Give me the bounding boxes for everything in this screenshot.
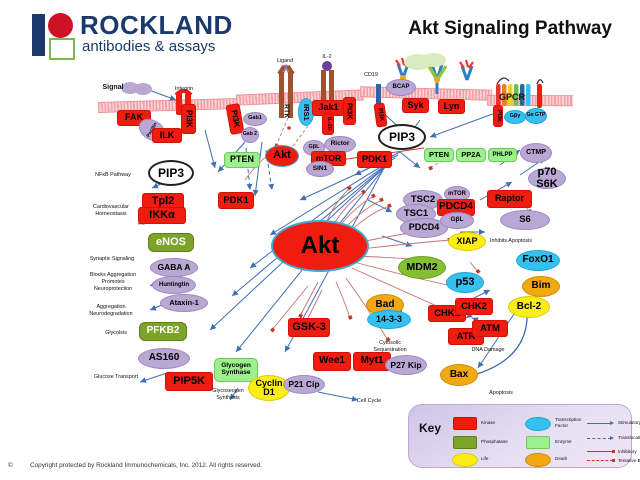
copyright-icon: © — [8, 462, 30, 469]
logo-name: ROCKLAND — [80, 12, 233, 38]
node-lyn[interactable]: Lyn — [438, 99, 465, 114]
legend-label-inhibitory: Inhibitory — [618, 449, 640, 455]
legend-label-death: Death — [555, 456, 585, 462]
node-rtk: RTK — [280, 98, 292, 124]
legend-swatch-transcription-factor — [525, 417, 551, 431]
node-chk2[interactable]: CHK2 — [455, 298, 493, 315]
annotation-integrin: Integrin — [168, 86, 200, 93]
node-p21-cip[interactable]: P21 Cip — [283, 375, 325, 394]
node-galpha-gtp[interactable]: Gα GTP — [525, 108, 547, 124]
node-gaba-a[interactable]: GABA A — [150, 258, 198, 277]
node-pip5k[interactable]: PIP5K — [165, 372, 213, 391]
node-pi3k-jak[interactable]: PI3K — [343, 97, 356, 125]
node-xiap[interactable]: XIAP — [448, 232, 486, 251]
legend-block-inhibitory — [612, 450, 615, 453]
node-pten-left[interactable]: PTEN — [224, 152, 260, 168]
node-pdk1-left[interactable]: PDK1 — [218, 192, 254, 209]
annotation-aggregation: Aggregation Neurodegradation — [84, 304, 138, 318]
node-ikka[interactable]: IKKα — [138, 207, 186, 224]
legend-swatch-enzyme — [526, 436, 550, 449]
node-raptor[interactable]: GβL — [440, 212, 474, 229]
legend-arrow-stimulatory — [610, 421, 614, 425]
node-wee1[interactable]: Wee1 — [313, 352, 351, 371]
legend-label-enzyme: Enzyme — [555, 439, 587, 445]
node-ilk[interactable]: ILK — [152, 128, 182, 143]
node-gab1[interactable]: Gab1 — [243, 112, 267, 126]
node-pip3-right[interactable]: PIP3 — [378, 124, 426, 150]
node-gsk-3[interactable]: GSK-3 — [288, 318, 330, 337]
node-bim[interactable]: Bim — [522, 276, 560, 297]
node-p53[interactable]: p53 — [446, 272, 484, 293]
legend-label-translocation: Translocation — [618, 435, 640, 441]
legend-line-tentative-block — [587, 460, 613, 461]
rockland-logo: ROCKLAND antibodies & assays — [30, 10, 260, 60]
node-gbeta-gamma[interactable]: Gβγ — [504, 110, 526, 124]
node-pp2a[interactable]: PP2A — [456, 148, 486, 162]
node-s6[interactable]: p70 S6K — [528, 168, 566, 189]
annotation-inhibits-apoptosis: Inhibits Apoptosis — [490, 238, 532, 245]
node-atm[interactable]: ATM — [472, 320, 508, 337]
node-pi3k-integrin[interactable]: PI3K — [181, 104, 196, 134]
node-pi3k-cd19[interactable]: PI3K — [373, 102, 387, 127]
legend: Key Kinase Phosphatase Life Transcriptio… — [408, 404, 632, 468]
legend-swatch-kinase — [453, 417, 477, 430]
legend-label-tentative-block: Tentative Block — [618, 458, 640, 464]
legend-label-stimulatory: Stimulatory — [618, 420, 640, 426]
node-pfkb2[interactable]: PFKB2 — [139, 322, 187, 341]
node-huntingtin[interactable]: Huntingtin — [152, 276, 196, 294]
legend-line-translocation — [587, 438, 611, 439]
node-akt-top[interactable]: Akt — [265, 145, 299, 167]
legend-label-transcription-factor: Transcription Factor — [555, 417, 589, 428]
node-enos[interactable]: eNOS — [148, 233, 194, 252]
node-pi3k-gpcr[interactable]: PI3K — [493, 105, 503, 127]
logo-circle-icon — [48, 13, 73, 38]
node-foxo1[interactable]: FoxO1 — [516, 250, 560, 271]
legend-line-stimulatory — [587, 423, 611, 424]
node-sin1[interactable]: SIN1 — [306, 161, 334, 177]
legend-title: Key — [419, 421, 441, 435]
node-akt-main[interactable]: Akt — [271, 220, 369, 272]
node-il2r[interactable]: IL-2R — [322, 113, 334, 135]
annotation-cell-cycle: Cell Cycle — [348, 398, 390, 405]
legend-label-kinase: Kinase — [481, 420, 521, 426]
node-phlpp[interactable]: PHLPP — [488, 148, 517, 162]
node-gpcr: GPCR — [493, 92, 531, 104]
annotation-glucose-transport: Glucose Transport — [92, 374, 140, 381]
legend-label-phosphatase: Phosphatase — [481, 439, 525, 445]
page-title: Akt Signaling Pathway — [408, 18, 612, 40]
node-pdcd4-right[interactable]: S6 — [500, 210, 550, 230]
annotation-dna-damage: DNA Damage — [466, 347, 510, 354]
legend-swatch-life — [452, 453, 478, 467]
node-pdk1-right[interactable]: PDK1 — [357, 151, 392, 168]
annotation-il2: IL-2 — [312, 54, 342, 61]
annotation-ligand: Ligand — [268, 58, 302, 65]
node-ataxin-1[interactable]: Ataxin-1 — [160, 294, 208, 312]
node-bcl-2[interactable]: Bcl-2 — [508, 296, 550, 318]
node-gab2[interactable]: Gab 2 — [241, 127, 259, 143]
node-pip3-left[interactable]: PIP3 — [148, 160, 194, 186]
annotation-signal: Signal — [96, 84, 130, 93]
logo-bar-icon — [32, 14, 45, 56]
annotation-cd19: CD19 — [356, 72, 386, 79]
node-pten-right[interactable]: PTEN — [424, 148, 454, 162]
legend-line-inhibitory — [587, 451, 613, 452]
node-syk[interactable]: Syk — [402, 98, 429, 113]
pathway-diagram: ROCKLAND antibodies & assays Akt Signali… — [0, 0, 640, 480]
annotation-synaptic: Synaptic Signaling — [84, 256, 140, 263]
legend-block-tentative — [612, 459, 615, 462]
node-as160[interactable]: AS160 — [138, 348, 190, 369]
legend-swatch-death — [525, 453, 551, 467]
annotation-apoptosis: Apoptosis — [480, 390, 522, 397]
annotation-nfkb: NFκB Pathway — [88, 172, 138, 179]
copyright-text: Copyright protected by Rockland Immunoch… — [30, 462, 262, 469]
annotation-glycolysis: Glycolsis — [96, 330, 136, 337]
annotation-cardiovascular: Cardiovascular Homeostasis — [84, 204, 138, 218]
node-bax[interactable]: Bax — [440, 364, 478, 386]
node-p27-kip[interactable]: P27 Kip — [385, 355, 427, 375]
node-14-3-3[interactable]: 14-3-3 — [367, 310, 411, 329]
node-p70-s6k[interactable]: Raptor — [487, 190, 532, 208]
footer: ©Copyright protected by Rockland Immunoc… — [8, 462, 262, 469]
node-bcap[interactable]: BCAP — [386, 79, 416, 96]
logo-square-icon — [49, 38, 75, 60]
logo-tagline: antibodies & assays — [82, 38, 215, 55]
legend-swatch-phosphatase — [453, 436, 477, 449]
legend-label-life: Life — [481, 456, 511, 462]
node-mdm2[interactable]: MDM2 — [398, 256, 446, 279]
node-ctmp[interactable]: CTMP — [520, 143, 552, 163]
legend-arrow-translocation — [610, 436, 614, 440]
annotation-blocks-aggregation: Blocks Aggregation Promotes Neuroprotect… — [84, 272, 142, 292]
